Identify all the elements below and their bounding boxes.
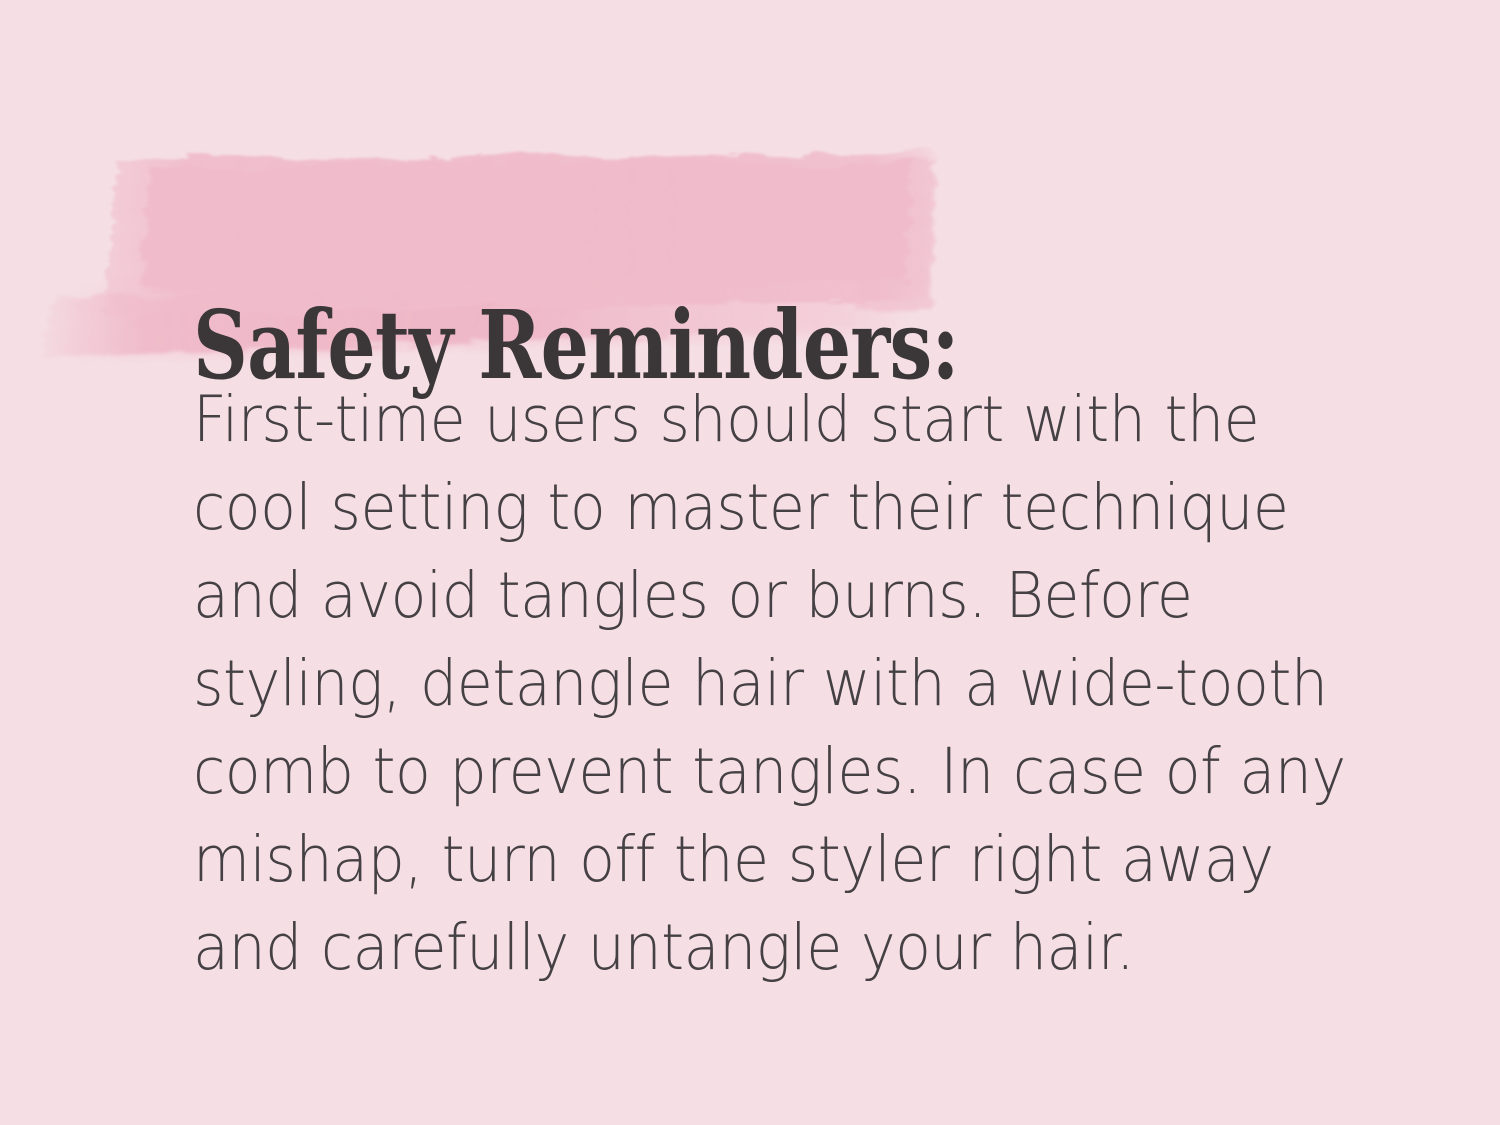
body-paragraph: First-time users should start with the c… [193,376,1374,992]
heading-block: Safety Reminders: [0,130,1000,380]
slide-canvas: Safety Reminders: First-time users shoul… [0,0,1500,1125]
